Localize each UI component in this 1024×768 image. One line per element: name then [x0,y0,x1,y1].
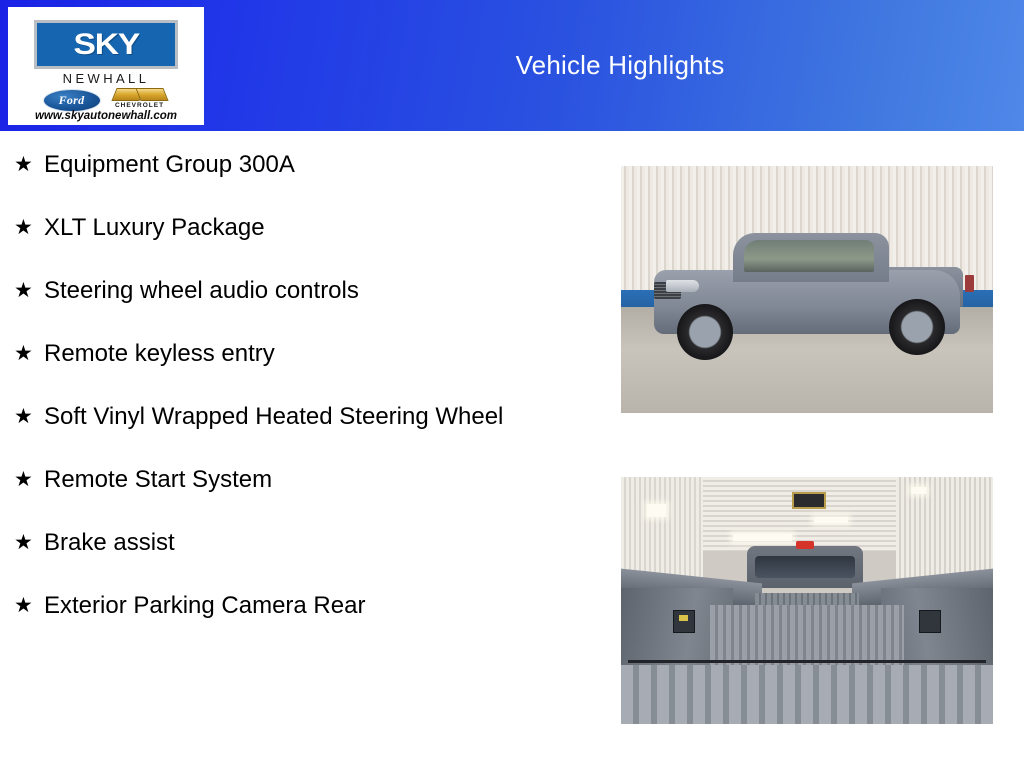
ford-logo-icon: Ford [43,89,101,112]
page-title: Vehicle Highlights [220,50,1020,81]
chevrolet-bowtie-icon [114,88,166,101]
truck-headlight [666,280,699,292]
sky-logo-plate: SKY [34,20,178,69]
sky-brand-text: SKY [73,30,139,60]
dealer-website-text: www.skyautonewhall.com [8,110,204,122]
dealer-logo: SKY NEWHALL Ford CHEVROLET www.skyautone… [8,7,204,125]
list-item: ★ Equipment Group 300A [0,148,580,181]
exterior-photo-scene [621,166,993,413]
ceiling-light [911,487,926,494]
list-item: ★ XLT Luxury Package [0,211,580,244]
shop-wall-left [621,477,703,581]
feature-label: Remote Start System [44,463,544,496]
star-bullet-icon: ★ [14,148,44,181]
list-item: ★ Steering wheel audio controls [0,274,580,307]
cab-rear-window [755,556,855,578]
chevrolet-wordmark: CHEVROLET [115,102,164,109]
bed-photo-scene [621,477,993,724]
vehicle-bed-photo [621,477,993,724]
ceiling-vent-icon [792,492,825,509]
vehicle-features-list: ★ Equipment Group 300A ★ XLT Luxury Pack… [0,148,580,652]
feature-label: Soft Vinyl Wrapped Heated Steering Wheel [44,400,544,433]
tailgate-edge [628,660,985,664]
truck-window-glass [744,240,874,272]
feature-label: Remote keyless entry [44,337,544,370]
bed-latch-right [919,610,941,632]
list-item: ★ Remote keyless entry [0,337,580,370]
star-bullet-icon: ★ [14,400,44,433]
feature-label: Exterior Parking Camera Rear [44,589,544,622]
ceiling-light [733,534,793,541]
cab-brake-lamp [796,541,815,548]
feature-label: Equipment Group 300A [44,148,544,181]
vehicle-exterior-photo [621,166,993,413]
dealer-location-text: NEWHALL [8,71,204,86]
feature-label: Brake assist [44,526,544,559]
list-item: ★ Soft Vinyl Wrapped Heated Steering Whe… [0,400,580,433]
tailgate-surface [621,665,993,724]
list-item: ★ Remote Start System [0,463,580,496]
truck-taillight [965,275,974,292]
truck-front-wheel [677,304,733,360]
ford-wordmark: Ford [59,94,85,106]
ceiling-light [814,517,847,523]
star-bullet-icon: ★ [14,274,44,307]
star-bullet-icon: ★ [14,589,44,622]
star-bullet-icon: ★ [14,337,44,370]
star-bullet-icon: ★ [14,526,44,559]
bed-label-sticker [679,615,688,621]
star-bullet-icon: ★ [14,463,44,496]
ceiling-light [647,504,666,516]
feature-label: XLT Luxury Package [44,211,544,244]
feature-label: Steering wheel audio controls [44,274,544,307]
list-item: ★ Brake assist [0,526,580,559]
list-item: ★ Exterior Parking Camera Rear [0,589,580,622]
bed-latch-left [673,610,695,632]
star-bullet-icon: ★ [14,211,44,244]
slide-canvas: Vehicle Highlights SKY NEWHALL Ford CHEV… [0,0,1024,768]
chevrolet-logo-icon: CHEVROLET [110,88,170,113]
dealer-logo-inner: SKY NEWHALL Ford CHEVROLET www.skyautone… [8,7,204,125]
truck-rear-wheel [889,299,945,355]
